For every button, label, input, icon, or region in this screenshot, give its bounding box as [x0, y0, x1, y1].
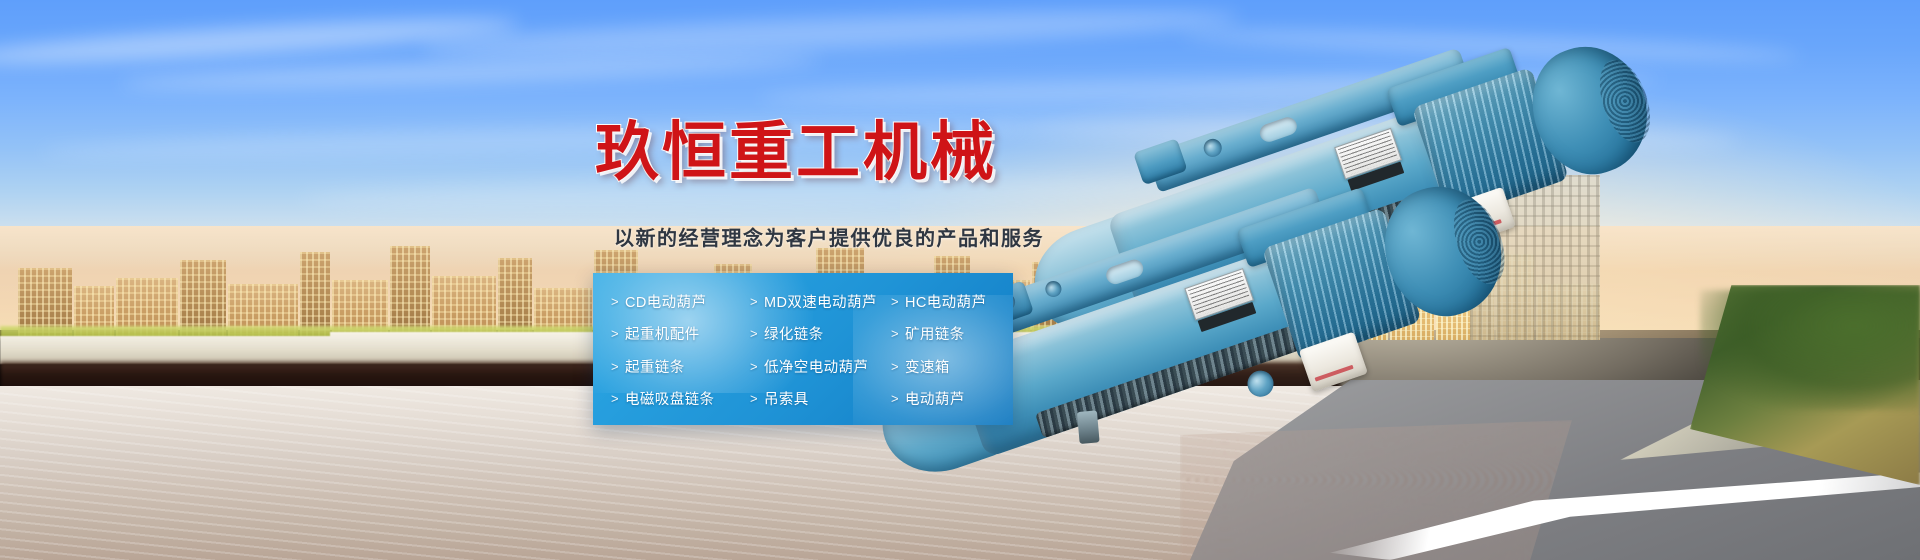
- hero-banner: 玖恒重工机械 以新的经营理念为客户提供优良的产品和服务 >CD电动葫芦 >MD双…: [0, 0, 1920, 560]
- chevron-right-icon: >: [891, 294, 899, 309]
- chevron-right-icon: >: [611, 326, 619, 341]
- product-link-lifting-chain[interactable]: >起重链条: [611, 350, 750, 383]
- junction-box-label: [1315, 365, 1354, 382]
- chevron-right-icon: >: [611, 359, 619, 374]
- product-label: 矿用链条: [905, 323, 965, 344]
- chevron-right-icon: >: [891, 391, 899, 406]
- chevron-right-icon: >: [891, 359, 899, 374]
- page-title: 玖恒重工机械: [595, 120, 997, 184]
- product-link-crane-parts[interactable]: >起重机配件: [611, 318, 750, 351]
- page-subtitle: 以新的经营理念为客户提供优良的产品和服务: [614, 222, 1044, 251]
- product-link-slings[interactable]: >吊索具: [750, 383, 891, 416]
- hillside-foliage: [1700, 290, 1920, 410]
- product-label: CD电动葫芦: [625, 291, 706, 312]
- product-label: MD双速电动葫芦: [764, 291, 877, 312]
- product-label: 电磁吸盘链条: [625, 388, 714, 409]
- product-link-gearbox[interactable]: >变速箱: [891, 350, 1013, 383]
- product-label: 起重机配件: [625, 323, 700, 344]
- product-label: 绿化链条: [764, 323, 824, 344]
- product-link-low-headroom-hoist[interactable]: >低净空电动葫芦: [750, 350, 891, 383]
- product-link-hc-hoist[interactable]: >HC电动葫芦: [891, 285, 1013, 318]
- product-link-md-dual-speed-hoist[interactable]: >MD双速电动葫芦: [750, 285, 891, 318]
- product-link-electric-hoist[interactable]: >电动葫芦: [891, 383, 1013, 416]
- product-link-magnetic-chuck-chain[interactable]: >电磁吸盘链条: [611, 383, 750, 416]
- product-link-cd-hoist[interactable]: >CD电动葫芦: [611, 285, 750, 318]
- chevron-right-icon: >: [750, 359, 758, 374]
- chevron-right-icon: >: [750, 391, 758, 406]
- product-link-mining-chain[interactable]: >矿用链条: [891, 318, 1013, 351]
- product-label: 变速箱: [905, 356, 950, 377]
- product-link-greening-chain[interactable]: >绿化链条: [750, 318, 891, 351]
- product-label: 电动葫芦: [905, 388, 965, 409]
- product-list-grid: >CD电动葫芦 >MD双速电动葫芦 >HC电动葫芦 >起重机配件 >绿化链条 >…: [593, 273, 1013, 425]
- hoist-hook: [1077, 410, 1100, 444]
- chevron-right-icon: >: [891, 326, 899, 341]
- product-label: 起重链条: [625, 356, 685, 377]
- product-label: 吊索具: [764, 388, 809, 409]
- chevron-right-icon: >: [750, 326, 758, 341]
- product-label: HC电动葫芦: [905, 291, 986, 312]
- chevron-right-icon: >: [750, 294, 758, 309]
- product-list-box: >CD电动葫芦 >MD双速电动葫芦 >HC电动葫芦 >起重机配件 >绿化链条 >…: [593, 273, 1013, 425]
- chevron-right-icon: >: [611, 294, 619, 309]
- product-label: 低净空电动葫芦: [764, 356, 868, 377]
- hoist-bolt-hole: [1244, 367, 1277, 400]
- chevron-right-icon: >: [611, 391, 619, 406]
- building: [390, 246, 430, 338]
